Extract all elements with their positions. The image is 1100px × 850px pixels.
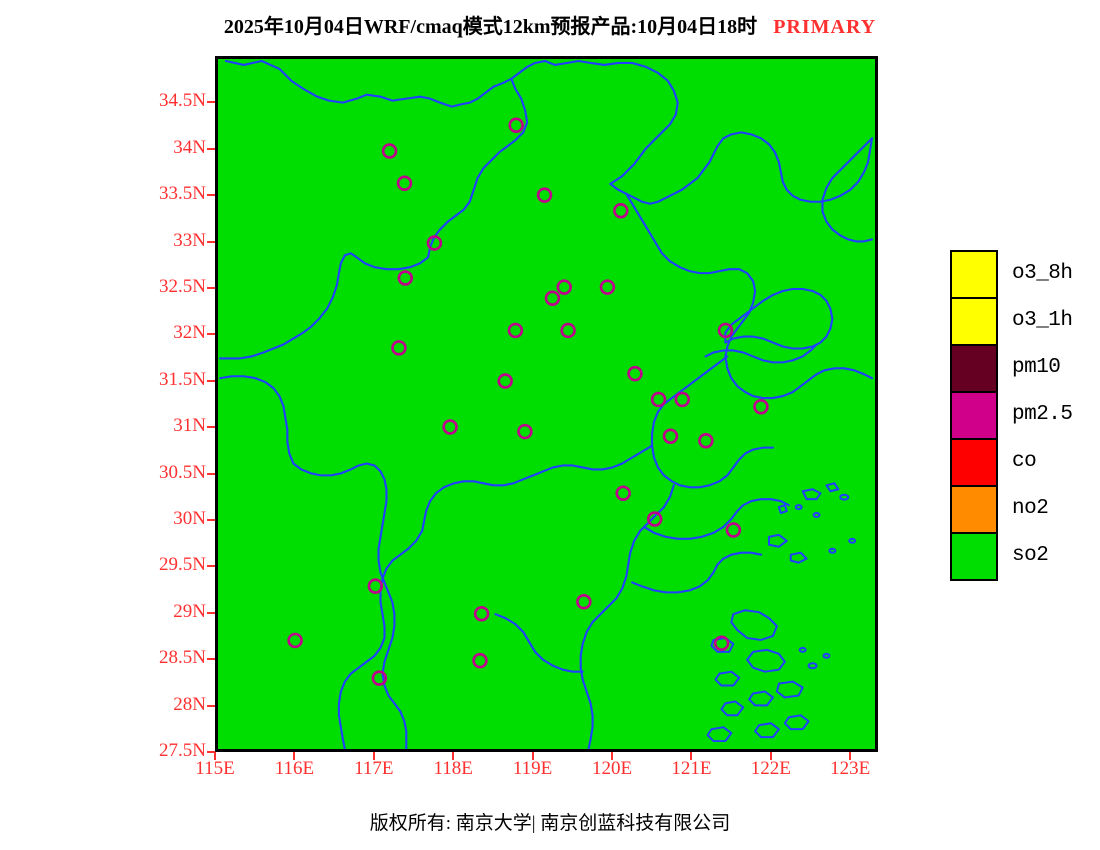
y-axis-tick-mark xyxy=(207,612,215,614)
y-axis-tick-label: 33.5N xyxy=(0,183,206,205)
x-axis-tick-label: 123E xyxy=(810,758,890,780)
y-axis-tick-mark xyxy=(207,287,215,289)
y-axis-tick-label: 33N xyxy=(0,230,206,252)
forecast-map-page: 2025年10月04日WRF/cmaq模式12km预报产品:10月04日18时P… xyxy=(0,0,1100,850)
legend-item-o3-1h[interactable]: o3_1h xyxy=(950,297,1090,346)
y-axis-tick-mark xyxy=(207,194,215,196)
x-axis-tick-mark xyxy=(690,752,692,760)
y-axis-tick-mark xyxy=(207,241,215,243)
map-plot-area[interactable] xyxy=(215,56,878,752)
y-axis-tick-label: 30.5N xyxy=(0,462,206,484)
x-axis-tick-mark xyxy=(214,752,216,760)
y-axis-tick-label: 34.5N xyxy=(0,90,206,112)
legend-item-label: o3_1h xyxy=(1012,309,1073,332)
x-axis-tick-label: 115E xyxy=(175,758,255,780)
x-axis-tick-mark xyxy=(611,752,613,760)
y-axis-tick-mark xyxy=(207,380,215,382)
x-axis-tick-label: 122E xyxy=(731,758,811,780)
pollutant-legend[interactable]: o3_8ho3_1hpm10pm2.5cono2so2 xyxy=(950,250,1090,581)
legend-item-no2[interactable]: no2 xyxy=(950,485,1090,534)
legend-item-label: pm10 xyxy=(1012,356,1060,379)
x-axis-tick-label: 116E xyxy=(254,758,334,780)
x-axis-tick-mark xyxy=(532,752,534,760)
copyright-footer: 版权所有: 南京大学| 南京创蓝科技有限公司 xyxy=(0,808,1100,835)
y-axis-tick-label: 32N xyxy=(0,322,206,344)
y-axis-tick-label: 32.5N xyxy=(0,276,206,298)
y-axis-tick-label: 30N xyxy=(0,508,206,530)
y-axis-tick-label: 28N xyxy=(0,694,206,716)
title-main-text: 2025年10月04日WRF/cmaq模式12km预报产品:10月04日18时 xyxy=(224,16,757,38)
page-title: 2025年10月04日WRF/cmaq模式12km预报产品:10月04日18时P… xyxy=(0,10,1100,39)
y-axis-tick-label: 28.5N xyxy=(0,647,206,669)
x-axis-tick-label: 117E xyxy=(334,758,414,780)
y-axis-tick-label: 29.5N xyxy=(0,554,206,576)
map-canvas xyxy=(218,59,875,749)
domain-fill-so2 xyxy=(218,59,875,749)
y-axis-tick-mark xyxy=(207,705,215,707)
legend-item-label: so2 xyxy=(1012,544,1048,567)
x-axis-tick-label: 118E xyxy=(413,758,493,780)
y-axis-tick-mark xyxy=(207,426,215,428)
x-axis-tick-label: 119E xyxy=(493,758,573,780)
legend-color-swatch xyxy=(950,250,998,299)
legend-color-swatch xyxy=(950,438,998,487)
legend-item-so2[interactable]: so2 xyxy=(950,532,1090,581)
legend-color-swatch xyxy=(950,344,998,393)
y-axis-tick-mark xyxy=(207,148,215,150)
y-axis-tick-label: 31.5N xyxy=(0,369,206,391)
legend-item-pm2-5[interactable]: pm2.5 xyxy=(950,391,1090,440)
x-axis-tick-label: 120E xyxy=(572,758,652,780)
y-axis-tick-label: 34N xyxy=(0,137,206,159)
legend-item-label: co xyxy=(1012,450,1036,473)
x-axis-tick-label: 121E xyxy=(651,758,731,780)
legend-item-o3-8h[interactable]: o3_8h xyxy=(950,250,1090,299)
y-axis-tick-mark xyxy=(207,473,215,475)
legend-item-label: no2 xyxy=(1012,497,1048,520)
y-axis-tick-label: 31N xyxy=(0,415,206,437)
x-axis-tick-mark xyxy=(373,752,375,760)
legend-color-swatch xyxy=(950,391,998,440)
y-axis-tick-mark xyxy=(207,101,215,103)
legend-color-swatch xyxy=(950,532,998,581)
title-primary-tag: PRIMARY xyxy=(773,16,876,38)
legend-color-swatch xyxy=(950,485,998,534)
legend-item-label: o3_8h xyxy=(1012,262,1073,285)
legend-item-co[interactable]: co xyxy=(950,438,1090,487)
legend-color-swatch xyxy=(950,297,998,346)
y-axis-tick-mark xyxy=(207,565,215,567)
x-axis-tick-mark xyxy=(452,752,454,760)
y-axis-tick-mark xyxy=(207,519,215,521)
x-axis-tick-mark xyxy=(770,752,772,760)
y-axis-tick-mark xyxy=(207,658,215,660)
legend-item-label: pm2.5 xyxy=(1012,403,1073,426)
y-axis-tick-label: 29N xyxy=(0,601,206,623)
legend-item-pm10[interactable]: pm10 xyxy=(950,344,1090,393)
x-axis-tick-mark xyxy=(849,752,851,760)
x-axis-tick-mark xyxy=(293,752,295,760)
y-axis-tick-mark xyxy=(207,333,215,335)
